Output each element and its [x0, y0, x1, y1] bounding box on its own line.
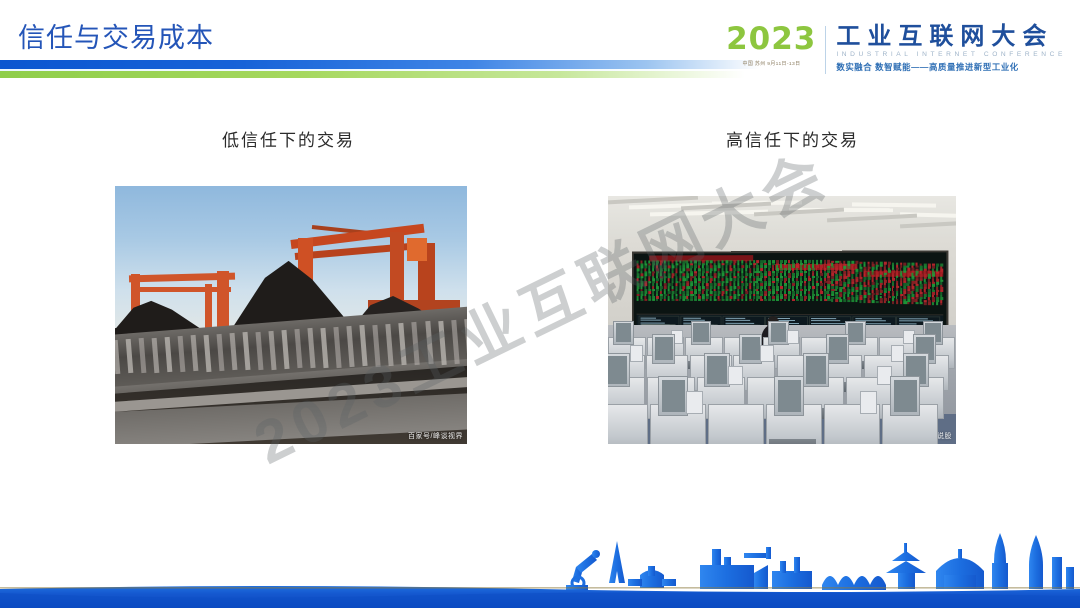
- board-quote-column: [725, 260, 728, 309]
- board-quote-column: [717, 260, 720, 309]
- board-quote-column: [824, 260, 827, 309]
- board-quote-column: [800, 260, 803, 309]
- board-quote-column: [675, 260, 678, 309]
- board-quote-column: [656, 260, 659, 308]
- board-quote-column: [871, 261, 874, 311]
- board-quote-column: [741, 260, 744, 309]
- logo-year-block: 2023 中国 苏州 9月11日-13日: [726, 24, 825, 67]
- board-quote-column: [891, 262, 894, 312]
- page-title: 信任与交易成本: [18, 16, 214, 55]
- board-quote-column: [928, 263, 931, 313]
- board-quote-column: [652, 260, 655, 308]
- board-quote-column: [694, 260, 697, 309]
- monitor-screen: [742, 337, 760, 360]
- board-quote-column: [792, 260, 795, 309]
- board-quote-column: [816, 260, 819, 309]
- desk-phone: [630, 345, 643, 362]
- board-quote-column: [920, 263, 923, 313]
- board-quote-column: [916, 263, 919, 313]
- monitor-screen: [616, 323, 632, 342]
- board-quote-column: [808, 260, 811, 309]
- board-quote-column: [788, 260, 791, 309]
- crt-monitor: [774, 376, 804, 415]
- board-quote-column: [749, 260, 752, 309]
- monitor-screen: [829, 337, 847, 360]
- board-quote-column: [940, 263, 943, 313]
- crt-monitor: [608, 353, 630, 387]
- board-quote-column: [776, 260, 779, 309]
- board-quote-column: [820, 260, 823, 309]
- board-quote-column: [729, 260, 732, 309]
- board-quote-columns: [634, 252, 947, 253]
- crt-monitor: [826, 334, 849, 363]
- logo-slogan: 数实融合 数智赋能——高质量推进新型工业化: [836, 61, 1066, 73]
- board-quote-column: [660, 260, 663, 308]
- board-quote-column: [760, 260, 763, 309]
- board-quote-column: [663, 260, 666, 308]
- skyline-svg: [0, 513, 1080, 608]
- board-quote-column: [839, 260, 842, 309]
- desk-phone: [860, 391, 877, 413]
- logo-name-block: 工业互联网大会 INDUSTRIAL INTERNET CONFERENCE 数…: [826, 24, 1066, 73]
- board-quote-column: [706, 260, 709, 309]
- desk-phone: [787, 330, 799, 344]
- board-quote-column: [887, 262, 890, 312]
- crt-monitor: [739, 334, 762, 363]
- shoreline: [0, 587, 1080, 589]
- board-quote-column: [851, 261, 854, 310]
- board-quote-column: [733, 260, 736, 309]
- footer-skyline: [0, 513, 1080, 608]
- monitor-screen: [806, 356, 826, 383]
- photo-low-trust: 百家号/峰谈视界: [115, 186, 467, 444]
- board-quote-column: [932, 263, 935, 313]
- conference-logo: 2023 中国 苏州 9月11日-13日 工业互联网大会 INDUSTRIAL …: [726, 24, 1066, 80]
- cubicle-partition: [708, 404, 763, 444]
- logo-name-en: INDUSTRIAL INTERNET CONFERENCE: [836, 51, 1066, 58]
- board-quote-column: [756, 260, 759, 309]
- board-subpanel-group: [637, 314, 944, 315]
- board-quote-column: [640, 260, 643, 308]
- monitor-screen: [655, 337, 673, 360]
- skyline-shapes-2: [609, 541, 625, 583]
- board-quote-column: [924, 263, 927, 313]
- board-quote-column: [867, 261, 870, 311]
- board-quote-column: [780, 260, 783, 309]
- crt-monitor: [890, 376, 920, 415]
- header-band-blue: [0, 60, 760, 69]
- board-quote-column: [721, 260, 724, 309]
- board-quote-column: [859, 261, 862, 310]
- board-quote-column: [764, 260, 767, 309]
- crt-monitor: [613, 321, 634, 345]
- board-quote-column: [702, 260, 705, 309]
- caption-high-trust: 高信任下的交易: [726, 126, 859, 151]
- monitor-screen: [894, 380, 917, 411]
- board-quote-column: [804, 260, 807, 309]
- monitor-screen: [771, 323, 787, 342]
- board-quote-column: [698, 260, 701, 309]
- caption-low-trust: 低信任下的交易: [222, 126, 355, 151]
- reclaimer-mast-2: [217, 271, 229, 328]
- photo-high-trust: 百家号/一鸣说股: [608, 196, 956, 444]
- board-quote-column: [835, 260, 838, 309]
- logo-name-cn: 工业互联网大会: [836, 24, 1066, 49]
- board-quote-column: [710, 260, 713, 309]
- crt-monitor: [768, 321, 789, 345]
- board-quote-column: [687, 260, 690, 309]
- board-quote-column: [768, 260, 771, 309]
- desk-phone: [686, 391, 703, 413]
- board-quote-column: [714, 260, 717, 309]
- board-quote-column: [936, 263, 939, 313]
- board-quote-column: [827, 260, 830, 309]
- slide-canvas: 信任与交易成本 2023 中国 苏州 9月11日-13日 工业互联网大会 IND…: [0, 0, 1080, 608]
- board-quote-column: [753, 260, 756, 309]
- board-quote-column: [912, 262, 915, 312]
- skyline-shapes: [566, 533, 1074, 590]
- board-quote-column: [745, 260, 748, 309]
- desk-phone: [728, 366, 743, 386]
- board-quote-column: [879, 261, 882, 311]
- board-quote-column: [796, 260, 799, 309]
- monitor-screen: [608, 356, 627, 383]
- monitor-screen: [848, 323, 864, 342]
- photo-watermark-left: 百家号/峰谈视界: [408, 431, 463, 441]
- board-quote-column: [863, 261, 866, 311]
- board-quote-column: [883, 262, 886, 312]
- board-quote-column: [784, 260, 787, 309]
- logo-year: 2023: [726, 24, 816, 55]
- header-band-green: [0, 71, 745, 78]
- board-quote-column: [667, 260, 670, 308]
- board-quote-column: [831, 260, 834, 309]
- board-quote-column: [855, 261, 858, 310]
- monitor-screen: [693, 323, 709, 342]
- board-quote-column: [683, 260, 686, 309]
- crt-monitor: [803, 353, 829, 387]
- board-quote-column: [679, 260, 682, 309]
- board-quote-column: [900, 262, 903, 312]
- desk-shadow: [769, 439, 815, 444]
- crt-monitor: [691, 321, 712, 345]
- monitor-screen: [778, 380, 801, 411]
- crt-monitor: [704, 353, 730, 387]
- desk-phone: [760, 345, 773, 362]
- monitor-screen: [662, 380, 685, 411]
- crt-monitor: [652, 334, 675, 363]
- logo-place-date: 中国 苏州 9月11日-13日: [742, 60, 800, 67]
- board-quote-column: [847, 260, 850, 309]
- crt-monitor: [658, 376, 688, 415]
- board-quote-column: [648, 260, 651, 308]
- board-quote-column: [690, 260, 693, 309]
- board-quote-column: [896, 262, 899, 312]
- cubicle-partition: [608, 404, 648, 444]
- stacker-cab: [407, 238, 426, 261]
- board-quote-column: [644, 260, 647, 308]
- board-quote-column: [904, 262, 907, 312]
- board-quote-column: [772, 260, 775, 309]
- board-quote-column: [737, 260, 740, 309]
- board-quote-column: [875, 261, 878, 311]
- board-quote-column: [908, 262, 911, 312]
- board-quote-column: [637, 260, 640, 308]
- board-quote-column: [812, 260, 815, 309]
- reclaimer-mast-3: [205, 284, 212, 328]
- board-quote-column: [843, 260, 846, 309]
- monitor-screen: [707, 356, 727, 383]
- board-quote-column: [671, 260, 674, 309]
